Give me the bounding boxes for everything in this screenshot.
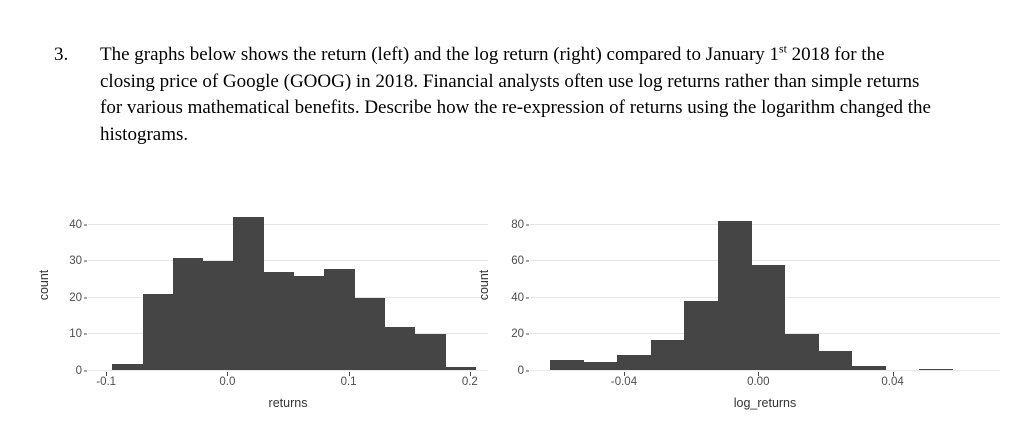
bars-returns (88, 210, 488, 371)
histogram-bar (684, 301, 718, 371)
histogram-bar (617, 355, 651, 371)
histogram-bar (324, 269, 354, 371)
figure-area: count 010203040 -0.10.00.10.2 returns co… (0, 190, 1024, 425)
question-text: The graphs below shows the return (left)… (100, 42, 934, 148)
y-tick-label: 40 (511, 292, 524, 304)
y-tick-mark (84, 371, 87, 372)
question-text-before: The graphs below shows the return (left)… (100, 44, 779, 65)
y-tick-mark (84, 261, 87, 262)
histogram-bar (264, 272, 294, 371)
histogram-bar (385, 327, 415, 371)
y-axis-title-logreturns: count (477, 265, 491, 305)
x-axis-title-returns: returns (88, 396, 488, 410)
histogram-bar (233, 217, 263, 371)
histogram-bar (752, 265, 786, 371)
histogram-bar (651, 340, 685, 371)
bars-logreturns (530, 210, 1000, 371)
y-tick-mark (526, 224, 529, 225)
x-axis-line-logreturns (530, 370, 1000, 371)
ordinal-suffix: st (779, 43, 787, 56)
x-tick-label: 0.0 (219, 376, 235, 388)
log-returns-histogram-plot: count 020406080 -0.040.000.04 log_return… (492, 190, 1024, 425)
histogram-bar (718, 221, 752, 371)
y-tick-label: 60 (511, 255, 524, 267)
histogram-bar (819, 351, 853, 371)
y-tick-label: 0 (76, 365, 82, 377)
y-tick-label: 30 (69, 255, 82, 267)
plot-panel-returns (88, 210, 488, 371)
y-axis-labels-logreturns: 020406080 (496, 210, 524, 371)
x-tick-label: 0.00 (747, 376, 769, 388)
y-tick-label: 20 (69, 292, 82, 304)
y-tick-label: 80 (511, 219, 524, 231)
y-tick-mark (526, 297, 529, 298)
y-tick-mark (84, 224, 87, 225)
histogram-bar (785, 334, 819, 371)
histogram-bar (203, 261, 233, 371)
y-axis-labels-returns: 010203040 (56, 210, 82, 371)
x-axis-labels-returns: -0.10.00.10.2 (88, 376, 488, 392)
y-tick-label: 40 (69, 219, 82, 231)
y-tick-mark (84, 297, 87, 298)
y-tick-mark (84, 334, 87, 335)
y-tick-label: 0 (518, 365, 524, 377)
returns-histogram-plot: count 010203040 -0.10.00.10.2 returns (0, 190, 500, 425)
histogram-bar (294, 276, 324, 371)
histogram-bar (173, 258, 203, 371)
x-tick-label: 0.2 (462, 376, 478, 388)
question-number: 3. (54, 42, 100, 69)
x-axis-line-returns (88, 370, 488, 371)
y-tick-label: 20 (511, 328, 524, 340)
histogram-bar (415, 334, 445, 371)
x-axis-labels-logreturns: -0.040.000.04 (530, 376, 1000, 392)
plot-panel-logreturns (530, 210, 1000, 371)
x-tick-label: 0.1 (341, 376, 357, 388)
histogram-bar (143, 294, 173, 371)
y-tick-mark (526, 371, 529, 372)
x-tick-label: -0.04 (611, 376, 637, 388)
x-tick-label: -0.1 (96, 376, 116, 388)
x-axis-title-logreturns: log_returns (530, 396, 1000, 410)
x-tick-label: 0.04 (881, 376, 903, 388)
histogram-bar (355, 298, 385, 371)
y-tick-label: 10 (69, 328, 82, 340)
y-tick-mark (526, 334, 529, 335)
y-tick-mark (526, 261, 529, 262)
y-axis-title-returns: count (37, 265, 51, 305)
question-block: 3. The graphs below shows the return (le… (54, 42, 934, 148)
